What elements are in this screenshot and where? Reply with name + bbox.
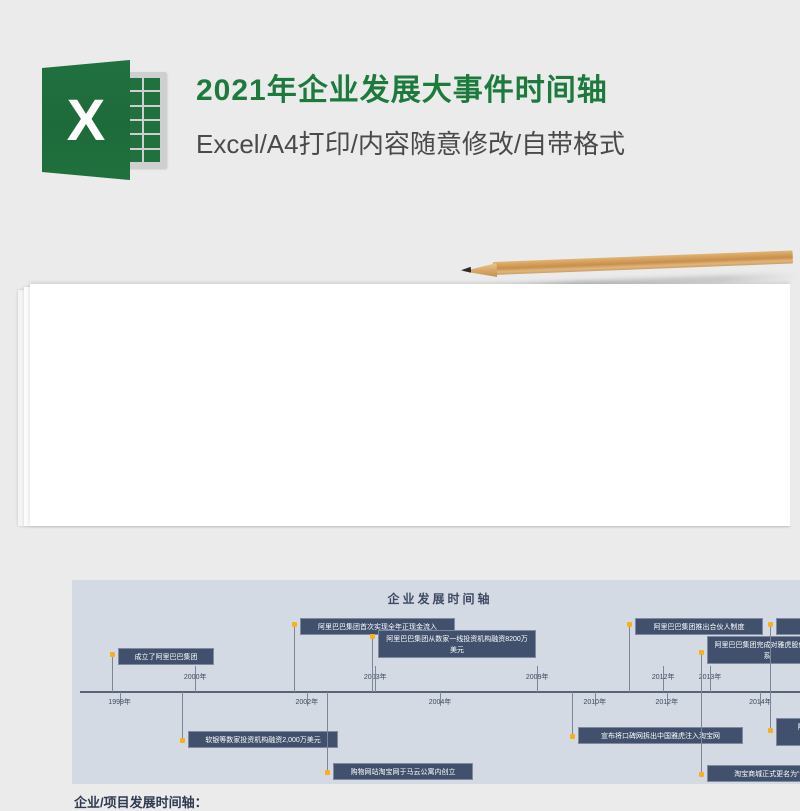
excel-logo-letter: X [42, 60, 130, 180]
banner-text-block: 2021年企业发展大事件时间轴 Excel/A4打印/内容随意修改/自带格式 [196, 68, 796, 166]
timeline-node[interactable] [570, 734, 575, 739]
right-edge-mask [790, 284, 800, 526]
timeline-event-label[interactable]: 宣布将口碑网拆出中国雅虎注入淘宝网 [578, 727, 743, 744]
timeline-connector [182, 692, 183, 740]
timeline-node[interactable] [110, 652, 115, 657]
page-subtitle: Excel/A4打印/内容随意修改/自带格式 [196, 122, 796, 166]
timeline-connector [701, 652, 702, 692]
timeline-node[interactable] [768, 622, 773, 627]
section-caption: 企业/项目发展时间轴： [74, 792, 208, 811]
timeline-event-label[interactable]: 软银等数家投资机构融资2,000万美元 [188, 731, 338, 748]
timeline-node[interactable] [699, 772, 704, 777]
timeline-connector [294, 624, 295, 692]
timeline-chart: 企业发展时间轴 1999年2000年2002年2003年2004年2009年20… [72, 580, 800, 784]
timeline-event-label[interactable]: 阿里巴巴集团完成对雅虎股份的关系 [707, 636, 800, 664]
timeline-node[interactable] [325, 770, 330, 775]
timeline-year-label: 2002年 [296, 697, 319, 707]
timeline-connector [112, 654, 113, 692]
timeline-year-label: 2014年 [749, 697, 772, 707]
timeline-year-label: 2000年 [184, 672, 207, 682]
timeline-connector [372, 636, 373, 692]
timeline-event-label[interactable]: 淘宝商城正式更名为“天猫” [707, 765, 800, 782]
timeline-year-label: 2012年 [656, 697, 679, 707]
excel-logo: X [42, 60, 172, 180]
timeline-year-label: 2003年 [364, 672, 387, 682]
timeline-node[interactable] [370, 634, 375, 639]
timeline-node[interactable] [292, 622, 297, 627]
timeline-connector [327, 692, 328, 772]
page-title: 2021年企业发展大事件时间轴 [196, 68, 796, 114]
timeline-connector [701, 692, 702, 774]
timeline-node[interactable] [699, 650, 704, 655]
timeline-event-label[interactable]: 阿里巴巴集团于纽约证 [776, 618, 800, 635]
timeline-event-label[interactable]: 阿里巴巴集团推出合伙人制度 [635, 618, 763, 635]
timeline-year-label: 2013年 [699, 672, 722, 682]
timeline-node[interactable] [627, 622, 632, 627]
timeline-event-label[interactable]: 购物网站淘宝网于马云公寓内创立 [333, 763, 473, 780]
chart-title: 企业发展时间轴 [72, 590, 800, 607]
pencil-body [493, 250, 793, 275]
timeline-year-label: 2004年 [429, 697, 452, 707]
paper-sheet-front: 企业发展时间轴 1999年2000年2002年2003年2004年2009年20… [30, 284, 790, 526]
timeline-event-label[interactable]: 阿里巴巴集团从数家一线投资机构融资8200万美元 [378, 630, 536, 658]
timeline-event-label[interactable]: 阿里巴巴集团宣布拥有应 [776, 718, 800, 746]
pencil-lead [461, 267, 471, 273]
timeline-year-label: 2012年 [652, 672, 675, 682]
timeline-year-label: 1999年 [108, 697, 131, 707]
timeline-event-label[interactable]: 成立了阿里巴巴集团 [118, 648, 214, 665]
timeline-connector [629, 624, 630, 692]
timeline-year-label: 2009年 [526, 672, 549, 682]
timeline-node[interactable] [180, 738, 185, 743]
timeline-connector [770, 624, 771, 692]
timeline-connector [770, 692, 771, 730]
timeline-year-label: 2010年 [584, 697, 607, 707]
timeline-connector [572, 692, 573, 736]
timeline-node[interactable] [768, 728, 773, 733]
promo-banner: X 2021年企业发展大事件时间轴 Excel/A4打印/内容随意修改/自带格式 [0, 0, 800, 240]
pencil-icon [455, 258, 800, 284]
